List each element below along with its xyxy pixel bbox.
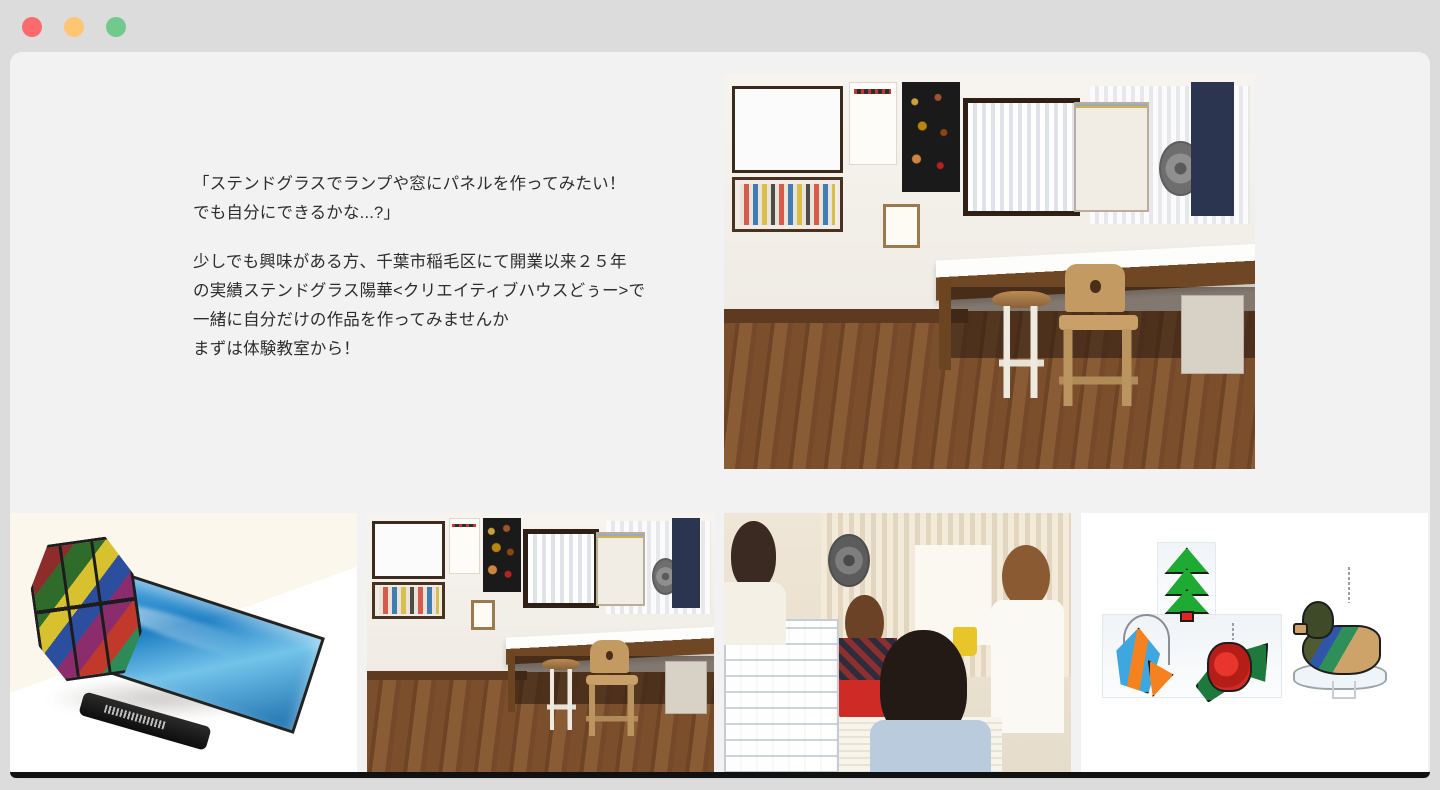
- angelfish-suncatcher: [1102, 619, 1178, 704]
- zoom-window-button[interactable]: [106, 17, 126, 37]
- kaleidoscope-illustration: [10, 513, 357, 778]
- rose-suncatcher: [1196, 638, 1269, 704]
- browser-window: 「ステンドグラスでランプや窓にパネルを作ってみたい！ でも自分にできるかな...…: [0, 0, 1440, 790]
- window-titlebar: [0, 0, 1440, 52]
- hero-workshop-photo: [724, 74, 1255, 469]
- hero-lede-text: 「ステンドグラスでランプや窓にパネルを作ってみたい！ でも自分にできるかな...…: [193, 170, 663, 228]
- christmas-tree-suncatcher: [1164, 547, 1209, 621]
- hero-body-text: 少しでも興味がある方、千葉市稲毛区にて開業以来２５年 の実績ステンドグラス陽華<…: [193, 248, 663, 364]
- gallery-item-kaleidoscope[interactable]: [10, 513, 357, 778]
- workshop-room-illustration: [367, 513, 714, 778]
- page-content-card: 「ステンドグラスでランプや窓にパネルを作ってみたい！ でも自分にできるかな...…: [10, 52, 1430, 778]
- class-lesson-illustration: [724, 513, 1071, 778]
- gallery-strip: [10, 513, 1430, 778]
- gallery-item-suncatchers[interactable]: [1081, 513, 1428, 778]
- duck-suncatcher: [1296, 598, 1386, 688]
- close-window-button[interactable]: [22, 17, 42, 37]
- page-bottom-rail: [10, 772, 1430, 778]
- hero-section: 「ステンドグラスでランプや窓にパネルを作ってみたい！ でも自分にできるかな...…: [10, 52, 1430, 501]
- gallery-item-workshop-room[interactable]: [367, 513, 714, 778]
- window-traffic-lights: [22, 17, 126, 37]
- suncatchers-illustration: [1081, 513, 1428, 778]
- minimize-window-button[interactable]: [64, 17, 84, 37]
- gallery-item-class-lesson[interactable]: [724, 513, 1071, 778]
- workshop-room-illustration: [724, 74, 1255, 469]
- hero-copy-block: 「ステンドグラスでランプや窓にパネルを作ってみたい！ でも自分にできるかな...…: [193, 170, 663, 364]
